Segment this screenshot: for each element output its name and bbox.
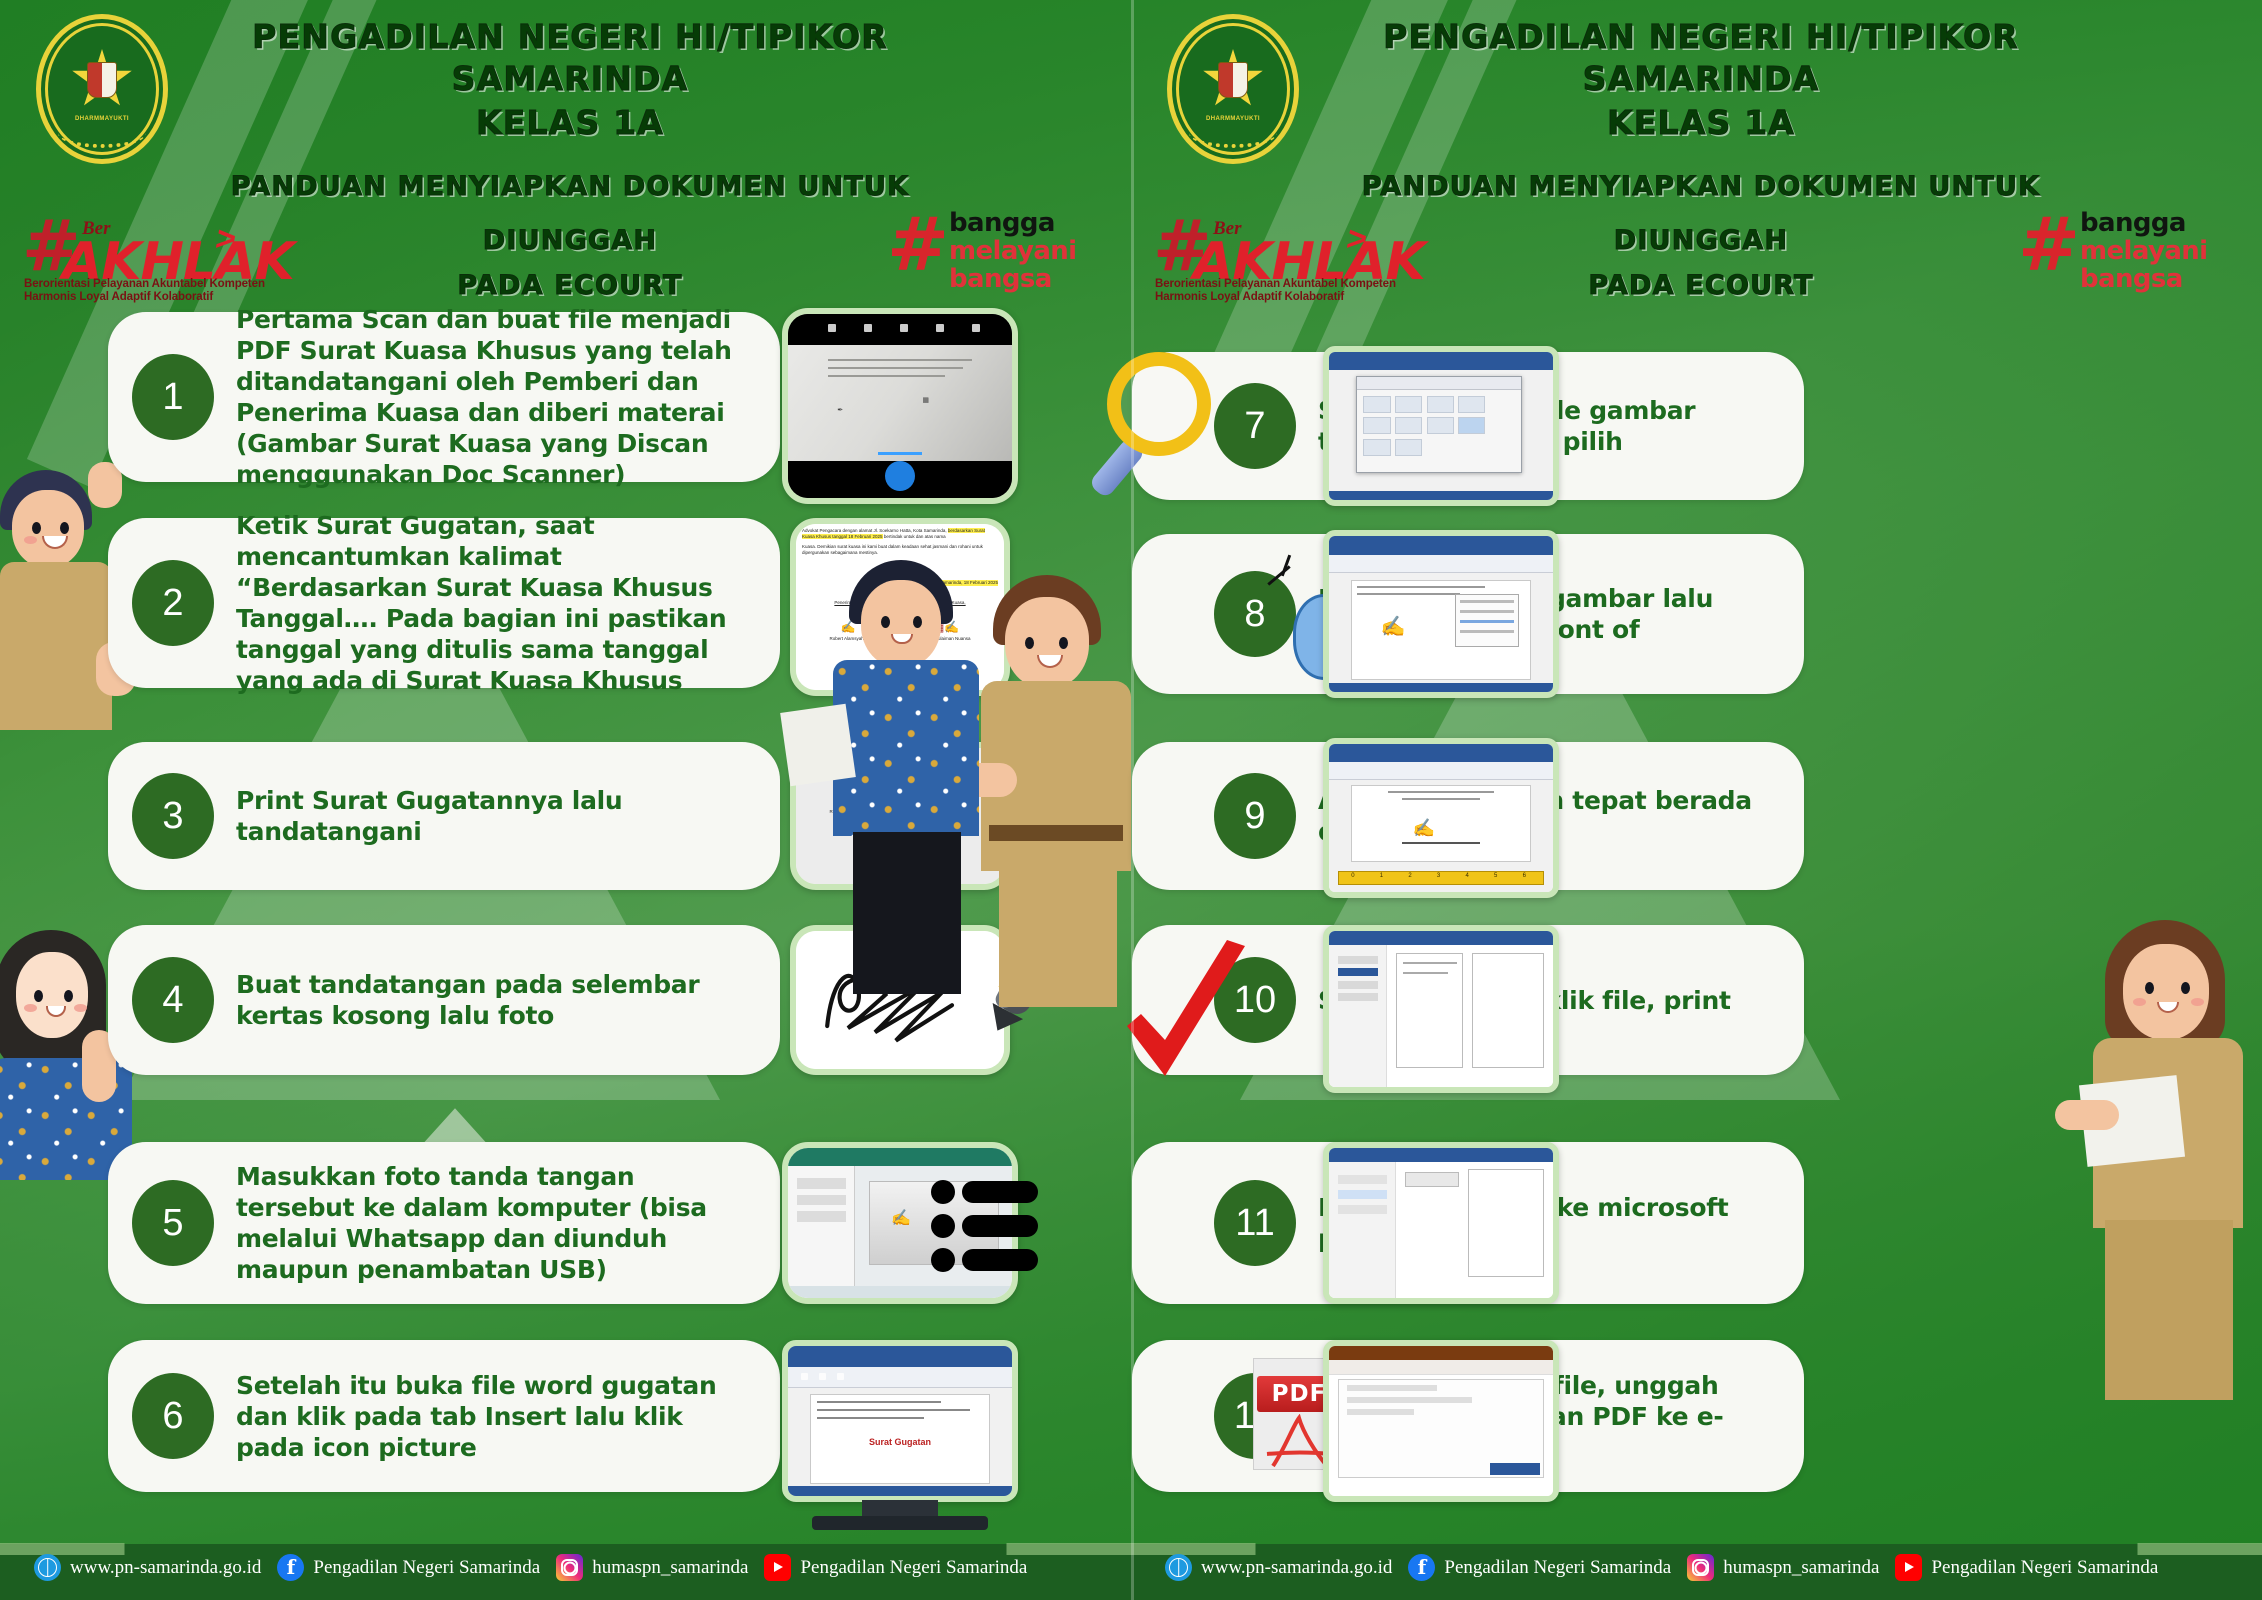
step-text: Buat tandatangan pada selembar kertas ko… [236,969,754,1031]
footer-label: www.pn-samarinda.go.id [1201,1557,1392,1579]
poster-header-right: DHARMMAYUKTI PENGADILAN NEGERI HI/TIPIKO… [1131,0,2262,300]
akhlak-values-line1: Berorientasi Pelayanan Akuntabel Kompete… [1155,278,1396,290]
court-class: KELAS 1A [170,100,970,146]
step-thumbnail-9[interactable]: ✍ 012 3456 [1323,738,1559,898]
footer-label: humaspn_samarinda [592,1557,748,1579]
step-thumbnail-12[interactable] [1323,1340,1559,1502]
character-woman-officer [2071,920,2262,1560]
step-card-4[interactable]: 4 Buat tandatangan pada selembar kertas … [108,925,780,1075]
step-card-5[interactable]: 5 Masukkan foto tanda tangan tersebut ke… [108,1142,780,1304]
step-text: Pertama Scan dan buat file menjadi PDF S… [236,304,754,490]
footer-label: Pengadilan Negeri Samarinda [313,1557,540,1579]
bangga-line1: bangga [949,210,1055,236]
crest-banner-text: DHARMMAYUKTI [1206,116,1260,122]
footer-item-youtube[interactable]: Pengadilan Negeri Samarinda [1895,1554,2158,1581]
step-number-badge: 5 [132,1180,214,1266]
step-thumbnail-6[interactable]: Surat Gugatan [782,1340,1018,1502]
step-thumbnail-10[interactable] [1323,925,1559,1093]
poster-header-left: DHARMMAYUKTI PENGADILAN NEGERI HI/TIPIKO… [0,0,1131,300]
infographic-poster: DHARMMAYUKTI PENGADILAN NEGERI HI/TIPIKO… [0,0,2262,1600]
akhlak-values-line2: Harmonis Loyal Adaptif Kolaboratif [1155,291,1344,303]
youtube-icon [1895,1554,1922,1581]
step-thumbnail-11[interactable] [1323,1142,1559,1304]
instagram-icon [1687,1554,1714,1581]
facebook-icon: f [277,1554,304,1581]
bullet-list-icon [931,1180,1051,1272]
step-card-3[interactable]: 3 Print Surat Gugatannya lalu tandatanga… [108,742,780,890]
akhlak-values-line1: Berorientasi Pelayanan Akuntabel Kompete… [24,278,265,290]
doc-after: bertindak untuk dan atas nama [884,534,946,539]
doc-body: Kuasa. Demikian surat kuasa ini kami bua… [802,544,998,556]
panel-divider [1131,0,1134,1600]
footer-item-instagram[interactable]: humaspn_samarinda [556,1554,748,1581]
footer-bar-left: www.pn-samarinda.go.id f Pengadilan Nege… [0,1544,1131,1600]
character-man-batik-holding-paper [831,560,1011,1020]
step-number-badge: 6 [132,1373,214,1459]
bangga-melayani-bangsa-logo: # bangga melayani bangsa [887,200,1107,300]
bangga-hash: # [887,208,949,282]
youtube-icon [764,1554,791,1581]
step-text: Ketik Surat Gugatan, saat mencantumkan k… [236,510,754,696]
bangga-line2: melayani [949,238,1077,264]
footer-bar-right: www.pn-samarinda.go.id f Pengadilan Nege… [1131,1544,2262,1600]
footer-label: Pengadilan Negeri Samarinda [1444,1557,1671,1579]
footer-label: humaspn_samarinda [1723,1557,1879,1579]
step-thumbnail-7[interactable] [1323,346,1559,506]
step-card-2[interactable]: 2 Ketik Surat Gugatan, saat mencantumkan… [108,518,780,688]
step-number-badge: 3 [132,773,214,859]
footer-item-website[interactable]: www.pn-samarinda.go.id [1165,1554,1392,1581]
step-text: Masukkan foto tanda tangan tersebut ke d… [236,1161,754,1285]
step-card-6[interactable]: 6 Setelah itu buka file word gugatan dan… [108,1340,780,1492]
footer-social-list: www.pn-samarinda.go.id f Pengadilan Nege… [1165,1554,2158,1581]
footer-label: Pengadilan Negeri Samarinda [800,1557,1027,1579]
footer-item-instagram[interactable]: humaspn_samarinda [1687,1554,1879,1581]
bangga-line3: bangsa [2080,266,2183,292]
magnifier-icon [1107,352,1257,502]
footer-item-youtube[interactable]: Pengadilan Negeri Samarinda [764,1554,1027,1581]
step-text: Setelah itu buka file word gugatan dan k… [236,1370,754,1463]
step-card-1[interactable]: 1 Pertama Scan dan buat file menjadi PDF… [108,312,780,482]
footer-item-facebook[interactable]: f Pengadilan Negeri Samarinda [277,1554,540,1581]
court-name: PENGADILAN NEGERI HI/TIPIKOR SAMARINDA [1301,16,2101,100]
panel-right: DHARMMAYUKTI PENGADILAN NEGERI HI/TIPIKO… [1131,0,2262,1600]
akhlak-logo: # Ber AKHLAK > Berorientasi Pelayanan Ak… [1151,214,1401,302]
step-number-badge: 4 [132,957,214,1043]
footer-label: www.pn-samarinda.go.id [70,1557,261,1579]
facebook-icon: f [1408,1554,1435,1581]
monitor-base [812,1516,988,1530]
footer-item-website[interactable]: www.pn-samarinda.go.id [34,1554,261,1581]
crest-banner-text: DHARMMAYUKTI [75,116,129,122]
akhlak-logo: # Ber AKHLAK > Berorientasi Pelayanan Ak… [20,214,270,302]
bangga-line2: melayani [2080,238,2208,264]
akhlak-values-line2: Harmonis Loyal Adaptif Kolaboratif [24,291,213,303]
red-checkmark-icon [1121,940,1251,1090]
footer-item-facebook[interactable]: f Pengadilan Negeri Samarinda [1408,1554,1671,1581]
court-name: PENGADILAN NEGERI HI/TIPIKOR SAMARINDA [170,16,970,100]
step-thumbnail-8[interactable]: ✍ [1323,530,1559,698]
step-number-badge: 11 [1214,1180,1296,1266]
bangga-hash: # [2018,208,2080,282]
step-text: Print Surat Gugatannya lalu tandatangani [236,785,754,847]
footer-social-list: www.pn-samarinda.go.id f Pengadilan Nege… [34,1554,1027,1581]
bangga-melayani-bangsa-logo: # bangga melayani bangsa [2018,200,2238,300]
globe-icon [1165,1554,1192,1581]
step-number-badge: 2 [132,560,214,646]
step-number-badge: 1 [132,354,214,440]
court-crest-logo: DHARMMAYUKTI [1167,14,1299,164]
step-number-badge: 9 [1214,773,1296,859]
instagram-icon [556,1554,583,1581]
court-class: KELAS 1A [1301,100,2101,146]
bangga-line3: bangsa [949,266,1052,292]
doc-intro: Advokat Pengacara dengan alamat Jl. Soek… [802,528,947,533]
bangga-line1: bangga [2080,210,2186,236]
globe-icon [34,1554,61,1581]
footer-label: Pengadilan Negeri Samarinda [1931,1557,2158,1579]
step-thumbnail-1[interactable]: ✒ ▦ [782,308,1018,504]
court-crest-logo: DHARMMAYUKTI [36,14,168,164]
